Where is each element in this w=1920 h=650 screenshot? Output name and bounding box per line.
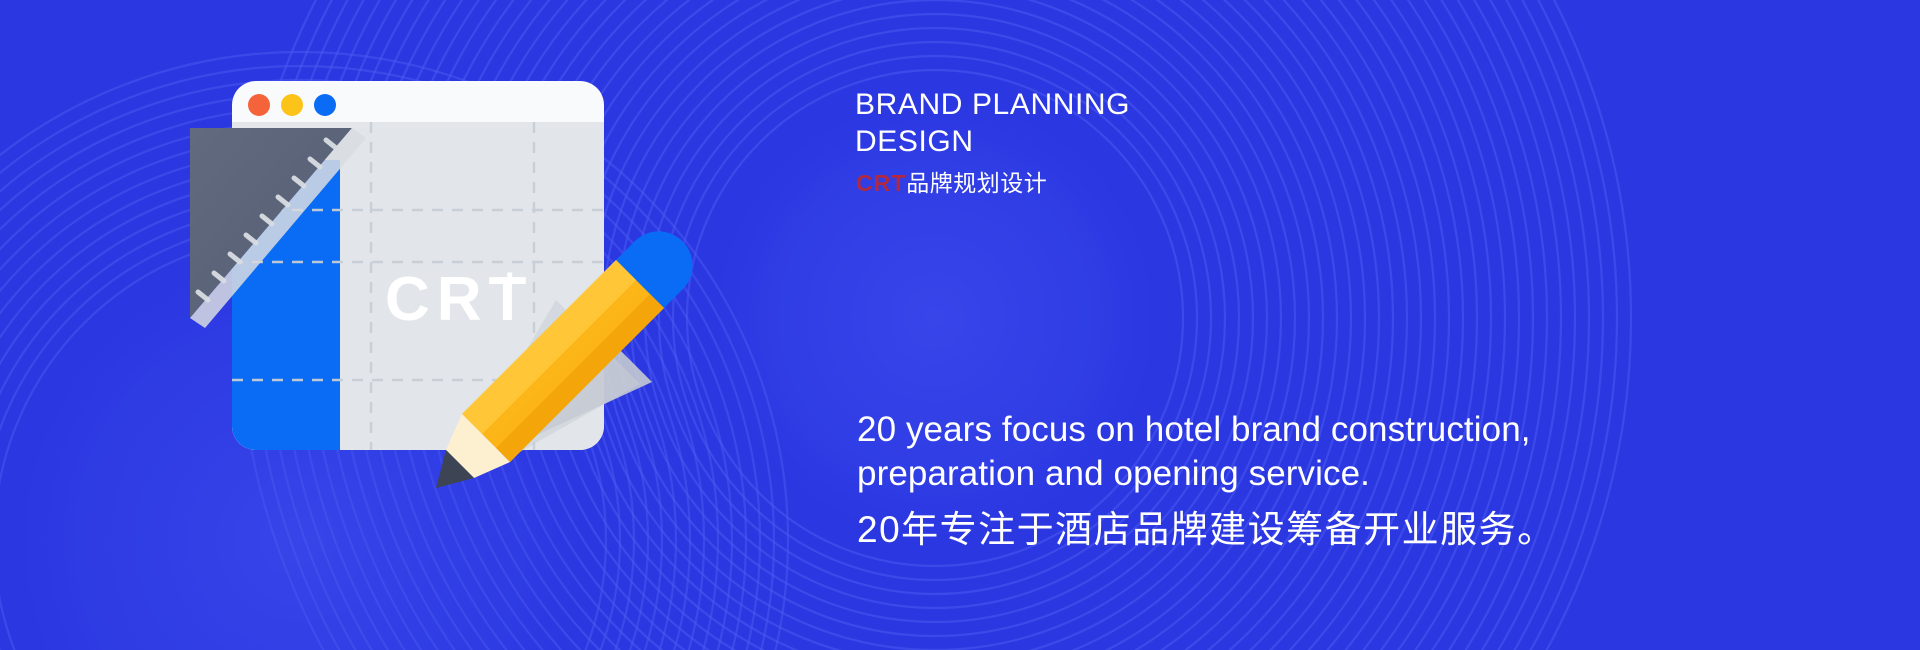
brand-subtitle-chinese: 品牌规划设计: [906, 170, 1047, 196]
illustration-svg: CRT ’: [0, 0, 900, 650]
minimize-dot: [281, 94, 303, 116]
lead-text-chinese: 20年专注于酒店品牌建设筹备开业服务。: [857, 505, 1556, 555]
hero-illustration: CRT ’: [0, 0, 900, 650]
maximize-dot: [314, 94, 336, 116]
text-column: BRAND PLANNING DESIGN CRT品牌规划设计 20 years…: [855, 0, 1855, 650]
brand-subtitle: CRT品牌规划设计: [856, 169, 1047, 197]
lead-text-english: 20 years focus on hotel brand constructi…: [857, 408, 1657, 496]
brand-mark: CRT: [856, 170, 906, 196]
brand-banner: CRT ’: [0, 0, 1920, 650]
crt-watermark-tick: ’: [505, 266, 514, 304]
page-title: BRAND PLANNING DESIGN: [855, 86, 1495, 160]
close-dot: [248, 94, 270, 116]
